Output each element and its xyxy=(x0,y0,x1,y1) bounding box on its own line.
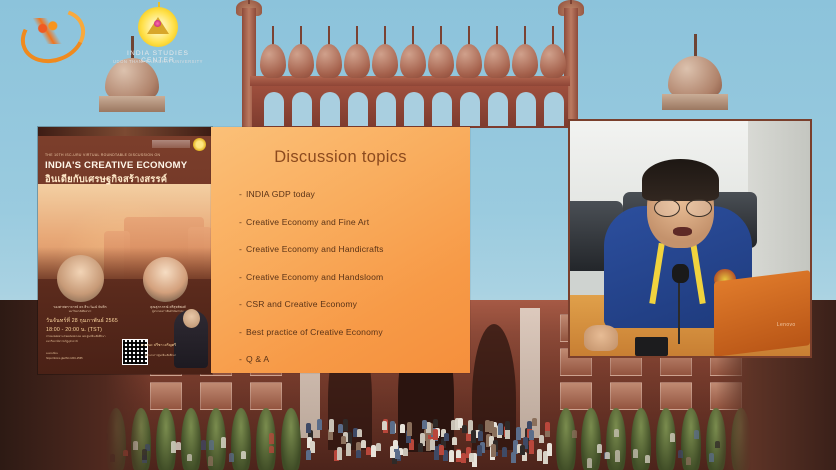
facade-panel xyxy=(610,382,642,410)
crowd-figure xyxy=(241,451,246,459)
crowd-figure xyxy=(615,450,620,462)
crowd-figure xyxy=(478,431,483,441)
crowd-figure xyxy=(201,440,206,450)
crowd-figure xyxy=(433,429,438,440)
slide-bullet-7: -Q & A xyxy=(239,354,454,364)
slide-bullet-list: -INDIA GDP today-Creative Economy and Fi… xyxy=(239,189,454,382)
dome xyxy=(428,44,454,78)
side-base-right xyxy=(662,94,728,110)
slide-bullet-5: -CSR and Creative Economy xyxy=(239,299,454,309)
dome xyxy=(260,44,286,78)
crowd-figure xyxy=(346,443,351,457)
center-name-line2: UDON THANI RAJABHAT UNIVERSITY xyxy=(112,59,204,64)
crowd-figure xyxy=(382,421,387,431)
poster-date: วันจันทร์ที่ 28 กุมภาพันธ์ 2565 xyxy=(46,317,118,325)
bullet-marker: - xyxy=(239,354,242,364)
crowd-figure xyxy=(471,430,476,443)
arch-opening xyxy=(348,92,368,126)
crowd-figure xyxy=(357,429,362,437)
arch-opening xyxy=(516,92,536,126)
crowd-figure xyxy=(390,421,395,434)
crowd-figure xyxy=(614,429,619,437)
crowd-figure xyxy=(709,453,714,461)
crowd-figure xyxy=(452,437,457,445)
dome-finial-icon xyxy=(384,26,386,46)
bullet-text: Q & A xyxy=(246,354,269,364)
poster-speaker-photo-2 xyxy=(143,257,188,302)
crowd-figure xyxy=(678,450,683,458)
dome xyxy=(372,44,398,78)
bullet-text: CSR and Creative Economy xyxy=(246,299,357,309)
speaker-video-tile[interactable]: Lenovo xyxy=(568,119,812,358)
speaker-hand xyxy=(584,325,618,351)
crowd-figure xyxy=(449,450,454,462)
arch-opening xyxy=(264,92,284,126)
crowd-figure xyxy=(587,458,592,468)
poster-register-label: ลงทะเบียน xyxy=(46,352,58,356)
poster-speaker-photo-1 xyxy=(57,255,104,302)
bullet-text: Creative Economy and Handicrafts xyxy=(246,244,384,254)
dome xyxy=(456,44,482,78)
poster-moderator-name: ดร.ชนะ ปรีชา เจริญศรี xyxy=(141,342,176,348)
facade-panel xyxy=(200,382,232,410)
crowd-figure xyxy=(366,447,371,456)
dome-finial-icon xyxy=(440,26,442,46)
microphone-stand xyxy=(678,278,680,344)
hedge xyxy=(156,408,176,470)
bullet-marker: - xyxy=(239,189,242,199)
hedge xyxy=(281,408,301,470)
dome xyxy=(400,44,426,78)
dome-finial-icon xyxy=(524,26,526,46)
poster-eyebrow: THE 10TH ISC-URU VIRTUAL ROUNDTABLE DISC… xyxy=(45,153,160,157)
crowd-figure xyxy=(356,450,361,458)
bullet-marker: - xyxy=(239,217,242,227)
dome-finial-icon xyxy=(300,26,302,46)
crowd-figure xyxy=(545,422,550,431)
bullet-marker: - xyxy=(239,272,242,282)
slide-bullet-3: -Creative Economy and Handicrafts xyxy=(239,244,454,254)
crowd-figure xyxy=(485,420,490,432)
crowd-figure xyxy=(516,427,521,440)
logo-glyph-icon xyxy=(33,18,65,44)
facade-panel xyxy=(250,382,282,410)
slide-discussion-topics[interactable]: Discussion topics -INDIA GDP today-Creat… xyxy=(211,127,470,373)
poster-title-th: อินเดียกับเศรษฐกิจสร้างสรรค์ xyxy=(45,172,167,187)
arch-opening xyxy=(376,92,396,126)
crowd-figure xyxy=(393,440,398,448)
poster-moderator-head xyxy=(183,309,200,328)
arch-opening xyxy=(320,92,340,126)
crowd-figure xyxy=(505,421,510,430)
dome xyxy=(288,44,314,78)
marble-inlay-strip xyxy=(520,308,540,438)
arch-opening xyxy=(544,92,564,126)
crowd-figure xyxy=(645,455,650,463)
dome-finial-icon xyxy=(412,26,414,46)
crowd-figure xyxy=(306,450,311,460)
crowd-figure xyxy=(310,441,315,453)
crowd-figure xyxy=(539,435,544,443)
crowd-figure xyxy=(418,443,423,452)
arch-opening xyxy=(404,92,424,126)
pillar-needle-right-icon xyxy=(570,0,572,4)
dome-finial-icon xyxy=(552,26,554,46)
crowd-figure xyxy=(341,436,346,444)
crowd-figure xyxy=(433,419,438,427)
hedge xyxy=(556,408,576,470)
crowd-figure xyxy=(337,447,342,461)
arch-opening xyxy=(432,92,452,126)
crowd-figure xyxy=(229,453,234,462)
crowd-figure xyxy=(338,424,343,432)
crowd-figure xyxy=(511,452,516,463)
slide-bullet-1: -INDIA GDP today xyxy=(239,189,454,199)
crowd-figure xyxy=(469,453,474,462)
crowd-figure xyxy=(269,433,274,443)
poster-top-strip xyxy=(38,127,212,136)
event-poster[interactable]: THE 10TH ISC-URU VIRTUAL ROUNDTABLE DISC… xyxy=(38,127,212,374)
bullet-text: Best practice of Creative Economy xyxy=(246,327,383,337)
crowd-figure xyxy=(498,423,503,435)
crowd-figure xyxy=(176,442,181,450)
presentation-stage: THE 10TH ISC-URU VIRTUAL ROUNDTABLE DISC… xyxy=(0,0,836,470)
crowd-figure xyxy=(694,430,699,438)
crowd-figure xyxy=(439,445,444,455)
dome xyxy=(512,44,538,78)
speaker-hair xyxy=(642,159,719,201)
crowd-figure xyxy=(477,445,482,457)
bullet-text: INDIA GDP today xyxy=(246,189,315,199)
crowd-figure xyxy=(343,419,348,431)
slide-title: Discussion topics xyxy=(211,148,470,167)
arch-opening xyxy=(488,92,508,126)
poster-title-en: INDIA'S CREATIVE ECONOMY xyxy=(45,160,187,171)
crowd-figure xyxy=(529,430,534,439)
crowd-figure xyxy=(461,453,466,464)
slide-bullet-4: -Creative Economy and Handsloom xyxy=(239,272,454,282)
slide-bullet-2: -Creative Economy and Fine Art xyxy=(239,217,454,227)
crowd-figure xyxy=(221,437,226,447)
crowd-figure xyxy=(537,449,542,461)
chhatri-screen-background xyxy=(232,0,588,128)
poster-speaker-1-affiliation: มหาวิทยาลัยศิลปากร xyxy=(40,310,120,314)
crowd-figure xyxy=(371,445,376,457)
facade-panel xyxy=(660,382,692,410)
dome xyxy=(540,44,566,78)
crowd-figure xyxy=(208,456,213,466)
dome-finial-icon xyxy=(356,26,358,46)
crowd-figure xyxy=(317,419,322,430)
poster-emblem-icon xyxy=(193,138,206,151)
crowd-figure xyxy=(491,444,496,457)
bullet-marker: - xyxy=(239,327,242,337)
crowd-figure xyxy=(633,449,638,457)
facade-panel xyxy=(150,382,182,410)
thai-swirl-logo-icon xyxy=(18,6,82,58)
poster-note-line-1: ถ่ายทอดสดผ่าน Facebook Live เพจ ศูนย์อิน… xyxy=(46,335,105,339)
emblem-jewel-icon xyxy=(154,20,161,27)
eyeglasses-left-lens-icon xyxy=(654,199,680,217)
poster-partner-wordmark xyxy=(152,140,190,148)
crowd-figure xyxy=(597,444,602,453)
crowd-figure xyxy=(187,454,192,461)
crowd-figure xyxy=(670,433,675,442)
crowd-figure xyxy=(269,446,274,453)
crowd-figure xyxy=(171,441,176,453)
crowd-figure xyxy=(532,418,537,426)
laptop xyxy=(714,270,810,357)
dome-finial-icon xyxy=(272,26,274,46)
crowd-figure xyxy=(209,440,214,450)
crowd-figure xyxy=(502,447,507,457)
poster-time: 18:00 - 20:00 น. (TST) xyxy=(46,326,102,334)
dome-finial-icon xyxy=(328,26,330,46)
crowd-figure xyxy=(407,422,412,436)
side-base-left xyxy=(99,96,165,112)
crowd-figure xyxy=(605,452,610,459)
crowd-figure xyxy=(444,433,449,441)
crowd-figure xyxy=(361,440,366,448)
arch-opening xyxy=(292,92,312,126)
dome-finial-icon xyxy=(468,26,470,46)
india-studies-center-logo: INDIA STUDIES CENTER UDON THANI RAJABHAT… xyxy=(112,6,204,68)
crowd-figure xyxy=(456,450,461,458)
smartphone xyxy=(635,337,669,356)
poster-register-url[interactable]: https://forms.gle/ISC-URU-2565 xyxy=(46,357,83,360)
slide-bullet-6: -Best practice of Creative Economy xyxy=(239,327,454,337)
bullet-marker: - xyxy=(239,244,242,254)
poster-moderator-affiliation: ผู้อำนวยการศูนย์อินเดียศึกษา xyxy=(145,354,176,358)
crowd-figure xyxy=(572,430,577,439)
crowd-figure xyxy=(686,457,691,465)
crowd-figure xyxy=(529,440,534,454)
dome-finial-icon xyxy=(496,26,498,46)
crowd-figure xyxy=(430,439,435,451)
facade-panel xyxy=(560,382,592,410)
crowd-figure xyxy=(376,443,381,450)
microphone-icon xyxy=(672,264,689,283)
bullet-text: Creative Economy and Handsloom xyxy=(246,272,383,282)
dome xyxy=(484,44,510,78)
crowd-figure xyxy=(306,423,311,434)
crowd-figure xyxy=(547,443,552,456)
dome xyxy=(316,44,342,78)
crowd-figure xyxy=(520,445,525,455)
crowd-figure xyxy=(400,424,405,433)
laptop-brand-label: Lenovo xyxy=(777,322,796,328)
crowd-figure xyxy=(422,420,427,428)
speaker-mouth xyxy=(673,227,692,236)
crowd-figure xyxy=(329,419,334,431)
arch-opening xyxy=(460,92,480,126)
crowd-figure xyxy=(403,448,408,456)
pillar-needle-left-icon xyxy=(248,0,250,4)
crowd-figure xyxy=(462,425,467,433)
dome xyxy=(344,44,370,78)
bullet-text: Creative Economy and Fine Art xyxy=(246,217,369,227)
poster-note-line-2: มหาวิทยาลัยราชภัฏอุดรธานี xyxy=(46,340,78,344)
bullet-marker: - xyxy=(239,299,242,309)
